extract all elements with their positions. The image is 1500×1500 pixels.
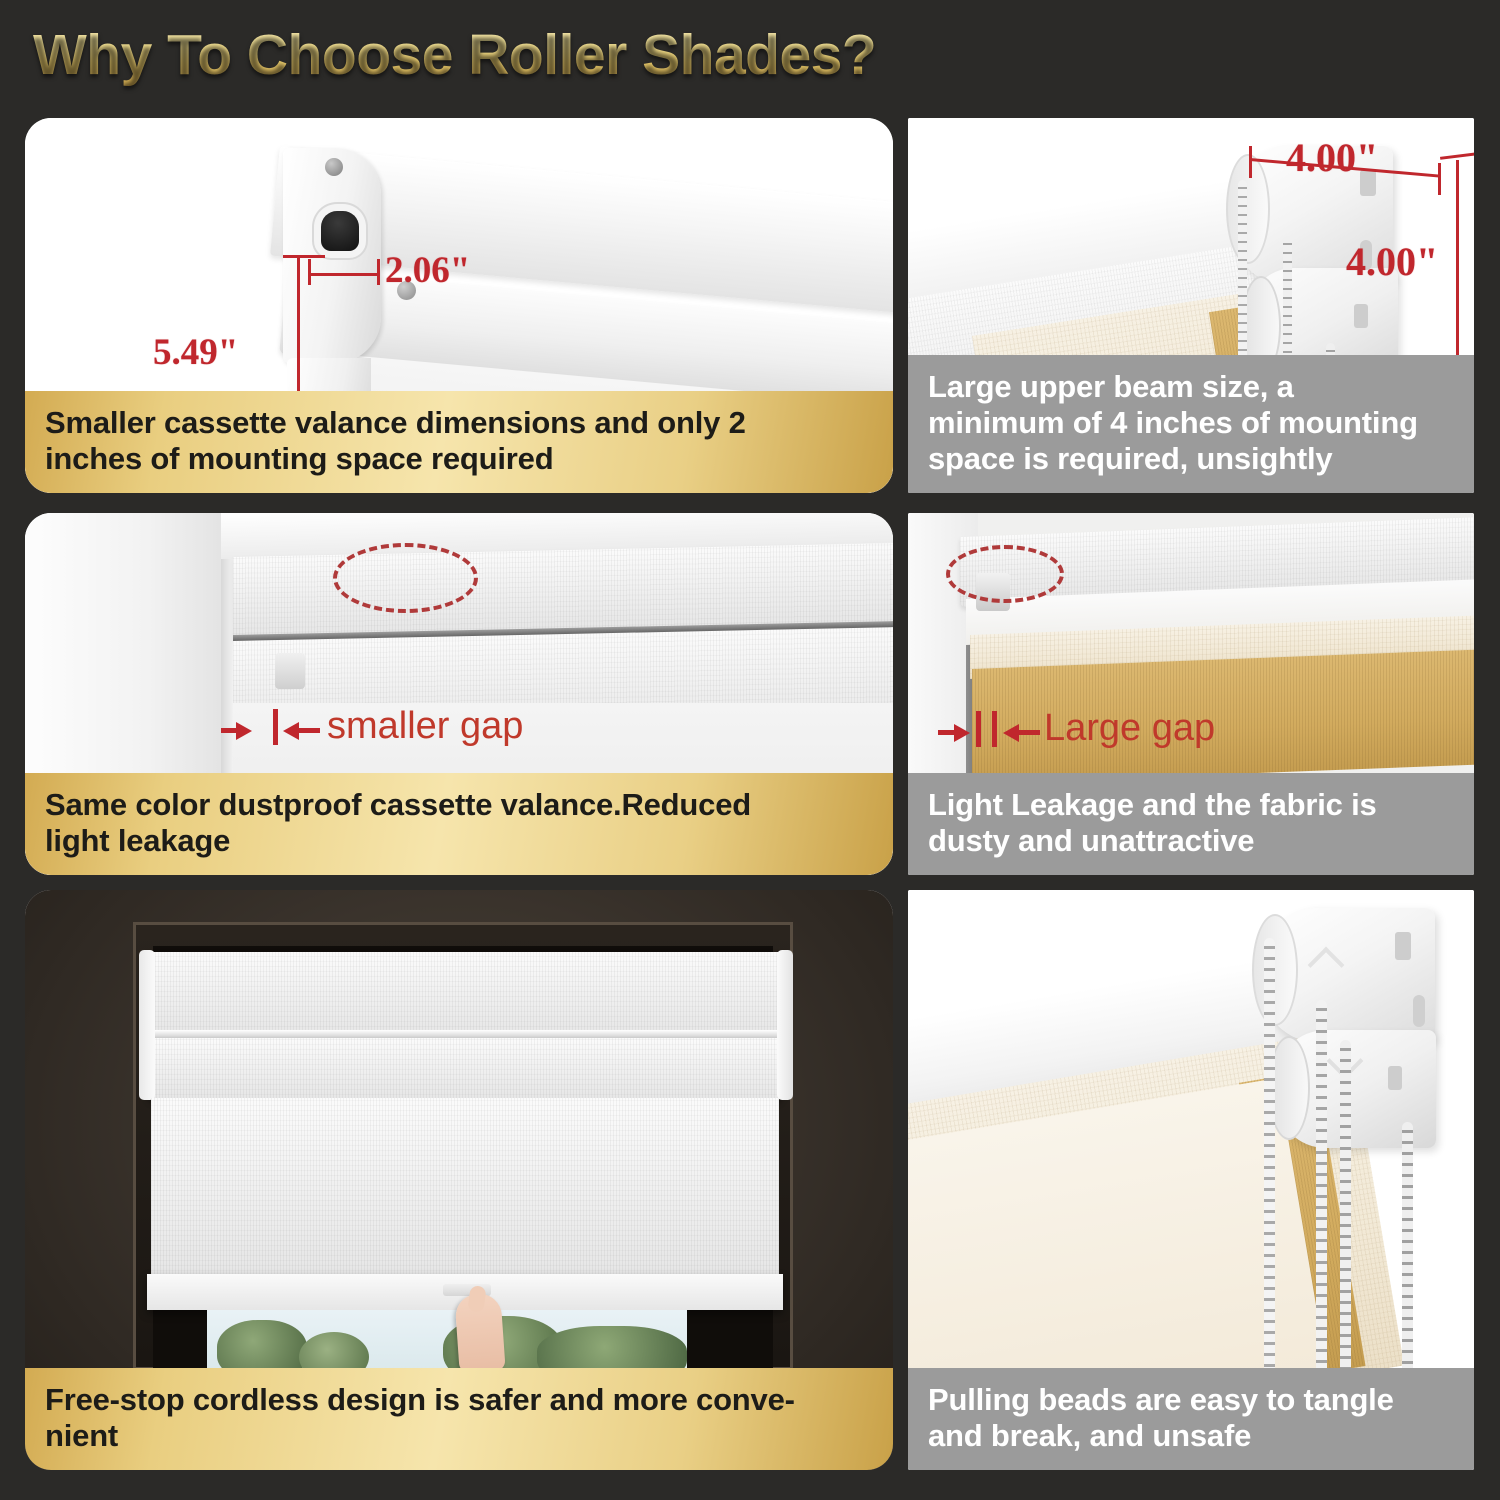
height-dimension-label: 5.49" bbox=[153, 331, 238, 374]
caption-line: Pulling beads are easy to tangle bbox=[928, 1382, 1454, 1418]
width-dimension-tick-right bbox=[377, 259, 380, 285]
height-dimension-tick-top bbox=[283, 255, 325, 258]
caption-cassette-valance-dimensions: Smaller cassette valance dimensions and … bbox=[25, 391, 893, 493]
gap-arrow-right-stem bbox=[1018, 730, 1040, 735]
caption-line: dusty and unattractive bbox=[928, 823, 1454, 859]
gap-highlight-oval bbox=[946, 545, 1064, 603]
beam-height-dimension-label: 4.00" bbox=[1346, 238, 1438, 285]
caption-pulling-beads-tangle: Pulling beads are easy to tangle and bre… bbox=[908, 1368, 1474, 1470]
caption-line: and break, and unsafe bbox=[928, 1418, 1454, 1454]
caption-dustproof-cassette-valance: Same color dustproof cassette valance.Re… bbox=[25, 773, 893, 875]
caption-line: nient bbox=[45, 1418, 873, 1454]
caption-line: space is required, unsightly bbox=[928, 441, 1454, 477]
caption-line: minimum of 4 inches of mounting bbox=[928, 405, 1454, 441]
gap-arrow-left-stem bbox=[221, 728, 239, 733]
caption-line: Light Leakage and the fabric is bbox=[928, 787, 1454, 823]
gap-arrow-right bbox=[1003, 724, 1019, 742]
caption-line: inches of mounting space required bbox=[45, 441, 873, 477]
width-dimension-line bbox=[309, 273, 379, 276]
gap-marker-bar-inner bbox=[976, 711, 981, 747]
caption-line: Free-stop cordless design is safer and m… bbox=[45, 1382, 873, 1418]
large-gap-label: Large gap bbox=[1044, 707, 1215, 750]
gap-arrow-left-stem bbox=[938, 730, 956, 735]
caption-free-stop-cordless-design: Free-stop cordless design is safer and m… bbox=[25, 1368, 893, 1470]
gap-arrow-left bbox=[954, 724, 970, 742]
infographic-page: Why To Choose Roller Shades? bbox=[0, 0, 1500, 1500]
caption-line: Large upper beam size, a bbox=[928, 369, 1454, 405]
panel-light-leakage-dusty-fabric: Large gap Light Leakage and the fabric i… bbox=[908, 513, 1474, 875]
width-dimension-label: 2.06" bbox=[385, 249, 470, 292]
beam-width-tick-right bbox=[1438, 163, 1441, 195]
panel-dustproof-cassette-valance: smaller gap Same color dustproof cassett… bbox=[25, 513, 893, 875]
smaller-gap-label: smaller gap bbox=[327, 705, 523, 748]
panel-large-upper-beam: 4.00" 4.00" Large upper beam size, a min… bbox=[908, 118, 1474, 493]
caption-line: Same color dustproof cassette valance.Re… bbox=[45, 787, 873, 823]
page-title: Why To Choose Roller Shades? bbox=[33, 22, 876, 88]
width-dimension-tick-left bbox=[308, 259, 311, 285]
caption-large-upper-beam: Large upper beam size, a minimum of 4 in… bbox=[908, 355, 1474, 493]
gap-arrow-right bbox=[283, 722, 299, 740]
gap-marker-bar-outer bbox=[992, 711, 997, 747]
beam-width-dimension-label: 4.00" bbox=[1286, 134, 1378, 181]
panel-free-stop-cordless-design: Free-stop cordless design is safer and m… bbox=[25, 890, 893, 1470]
panel-cassette-valance-dimensions: 2.06" 5.49" Smaller cassette valance dim… bbox=[25, 118, 893, 493]
gap-marker-bar bbox=[273, 709, 278, 745]
caption-line: light leakage bbox=[45, 823, 873, 859]
panel-pulling-beads-tangle: Pulling beads are easy to tangle and bre… bbox=[908, 890, 1474, 1470]
caption-light-leakage-dusty-fabric: Light Leakage and the fabric is dusty an… bbox=[908, 773, 1474, 875]
beam-width-tick-left bbox=[1249, 146, 1252, 178]
caption-line: Smaller cassette valance dimensions and … bbox=[45, 405, 873, 441]
gap-highlight-oval bbox=[333, 543, 478, 613]
gap-arrow-right-stem bbox=[298, 728, 320, 733]
